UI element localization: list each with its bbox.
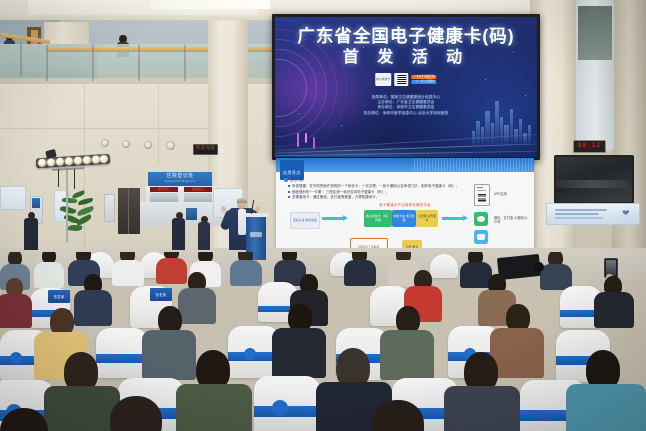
audience-torso: [156, 258, 187, 284]
stage-lamp-icon: [65, 157, 73, 165]
podium-top-surface: [243, 213, 269, 217]
audience-torso: [566, 384, 646, 431]
slide-bullet-text: 就医便利的“一卡通”：三院区统一标识支持电子健康卡（码）；: [292, 190, 389, 194]
flow-arrow-1: [322, 217, 344, 220]
seat-reserved-card: 首发席: [48, 290, 70, 303]
chair-sash: [96, 354, 148, 363]
speaker-hair: [237, 198, 247, 203]
counter-window-label-1: 挂号窗口: [150, 187, 178, 191]
wall-poster-left: [0, 186, 26, 210]
ceiling-vent-icon: [122, 140, 130, 148]
stage-lamp-icon: [83, 156, 91, 164]
slide-tab-label: 应用亮点: [283, 170, 301, 175]
digital-clock-value: 88:12: [574, 141, 605, 150]
right-window-glass: [578, 6, 612, 60]
pill-badge-1: 一卡在手 健康无忧: [411, 75, 436, 79]
ceiling-vent-icon: [166, 141, 175, 150]
event-photo-scene: 欢迎光临 88:12 住院登记处 Admission Registry 挂号窗口…: [0, 0, 646, 431]
elevator-door-split: [128, 188, 129, 234]
audience-torso: [490, 328, 544, 378]
kiosk-screen-left[interactable]: [32, 198, 40, 208]
podium-logo: [250, 232, 262, 237]
stage-lamp-icon: [74, 157, 82, 165]
stage-lamp-icon: [56, 158, 64, 166]
flow-node-0-label: 实名认证 信息采集: [293, 219, 317, 223]
slide-bullet-marker-icon: [284, 178, 288, 182]
stage-lamp-icon: [38, 159, 46, 167]
qr-code-icon: [397, 75, 406, 84]
audience-area: 首发席 首发席: [0, 252, 646, 431]
video-camera-lens-icon: [534, 262, 544, 272]
led-screen-title-line2: 首 发 活 动: [275, 49, 537, 67]
confetti-figure: [305, 133, 307, 143]
seat-reserved-card: 首发席: [150, 288, 172, 301]
flow-node-1-label: 电子健康卡 （码）管理: [365, 215, 391, 222]
flow-node-0: 实名认证 信息采集: [290, 212, 320, 229]
counter-window-label-2: 收费窗口: [184, 187, 212, 191]
speaker-left-hand: [221, 206, 226, 212]
registration-sign: 住院登记处 Admission Registry: [148, 172, 212, 186]
wall-seam: [0, 128, 208, 129]
railing-mullion: [20, 42, 22, 76]
ceiling-vent-icon: [144, 141, 152, 149]
wechat-icon: [474, 212, 488, 226]
seat-card-label: 首发席: [156, 292, 167, 297]
counter-window-led-2: 收费窗口: [184, 187, 212, 192]
wall-tv-glare: [556, 180, 628, 188]
staff-member-left: [24, 212, 38, 250]
railing-mullion: [184, 45, 186, 81]
audience-torso: [594, 292, 634, 328]
light-stand-cable: [74, 169, 75, 189]
alipay-icon: [474, 230, 488, 244]
light-stand-pole: [66, 166, 68, 242]
kiosk-screen-right[interactable]: [186, 208, 197, 220]
slide-section-heading: 居民端: [290, 177, 303, 183]
pill-badge-2: 一人一码 全国通用: [411, 80, 436, 84]
chair-sash-knot: [272, 400, 288, 416]
qr-badge: [394, 73, 408, 86]
audience-torso: [540, 264, 572, 290]
counter-window-glass-1: [150, 193, 178, 202]
stage-lamp-icon: [100, 155, 108, 163]
chair-sash-knot: [244, 348, 256, 360]
audience-torso: [176, 384, 252, 431]
light-stand-cable: [58, 169, 59, 187]
heart-icon: ❤: [622, 209, 631, 218]
audience-torso: [444, 386, 520, 431]
led-ticker-text: 欢迎光临: [194, 145, 217, 152]
flow-node-3: 全流程 业务服务: [416, 210, 438, 227]
audience-torso: [74, 290, 112, 326]
led-ticker-sign: 欢迎光临: [193, 144, 218, 155]
registration-sign-cn: 住院登记处: [148, 172, 212, 179]
audience-torso: [230, 260, 262, 286]
seat-card-label: 首发席: [54, 294, 65, 299]
confetti-figure: [313, 137, 315, 149]
flow-node-2-label: 健康卡主 索引管理: [393, 215, 415, 222]
railing-mullion: [92, 45, 94, 81]
slide-flow-title: 电子健康卡产业链条件服务平台: [379, 202, 431, 207]
flow-node-2: 健康卡主 索引管理: [392, 210, 416, 227]
app-label-1: 微信、支付宝 小程序/公众号: [494, 216, 530, 224]
led-screen-title-line1: 广东省全国电子健康卡(码): [275, 27, 537, 46]
audience-torso: [112, 260, 144, 286]
led-screen-badge-row: 电子健康卡 一卡在手 健康无忧 一人一码 全国通用: [375, 73, 436, 86]
logo-badge: 电子健康卡: [375, 73, 391, 86]
audience-torso: [142, 330, 196, 380]
self-service-kiosk-mid[interactable]: [104, 194, 115, 222]
counter-window-led-1: 挂号窗口: [150, 187, 178, 192]
stage-lamp-icon: [47, 158, 55, 166]
counter-window-glass-2: [184, 193, 212, 202]
flow-arrow-2: [442, 217, 464, 220]
railing-mullion: [138, 45, 140, 81]
speaker-right-hand: [255, 206, 260, 212]
chair: [96, 328, 148, 378]
chair: [430, 254, 458, 278]
confetti-figure: [297, 133, 299, 147]
slide-bullet-text: 申领便捷：在不同的医疗机构的一个就诊卡，一次办理，一张卡通用以及申领门诊、制作电…: [292, 184, 460, 188]
audience-torso: [0, 294, 32, 328]
audience-torso: [344, 260, 376, 286]
ceiling-vent-icon: [101, 139, 109, 147]
staff-member-center: [172, 212, 185, 250]
chair-sash-knot: [10, 352, 22, 364]
wall-seam-vertical: [158, 84, 159, 164]
phone-qr-icon: [474, 184, 490, 206]
railing-mullion: [46, 45, 48, 81]
app-label-0: APP应用: [494, 192, 507, 196]
stage-lamp-icon: [92, 156, 100, 164]
audience-torso: [178, 288, 216, 324]
elevator-door: [118, 188, 140, 234]
flow-node-1: 电子健康卡 （码）管理: [364, 210, 392, 227]
health-card-banner: ❤: [546, 203, 640, 225]
ceiling-recess-inner: [150, 0, 270, 9]
banner-text-lines: [555, 209, 607, 221]
registration-sign-en: Admission Registry: [148, 179, 212, 183]
main-led-screen: 广东省全国电子健康卡(码) 首 发 活 动 电子健康卡 一卡在手 健康无忧 一人…: [272, 14, 540, 160]
slide-header-bar: [276, 158, 534, 172]
flow-node-3-label: 全流程 业务服务: [417, 215, 437, 222]
staff-member-right: [198, 216, 210, 250]
pill-badge-group: 一卡在手 健康无忧 一人一码 全国通用: [411, 75, 436, 84]
audience-torso: [380, 330, 434, 380]
audience-torso: [34, 262, 64, 288]
audience-torso: [44, 386, 120, 431]
slide-bullet-text: 多渠道用卡：通过微信、支付宝等渠道，方便快捷用卡。: [292, 195, 379, 199]
digital-clock: 88:12: [573, 140, 606, 153]
wall-seam-vertical: [84, 84, 85, 274]
audience-torso: [272, 328, 326, 378]
